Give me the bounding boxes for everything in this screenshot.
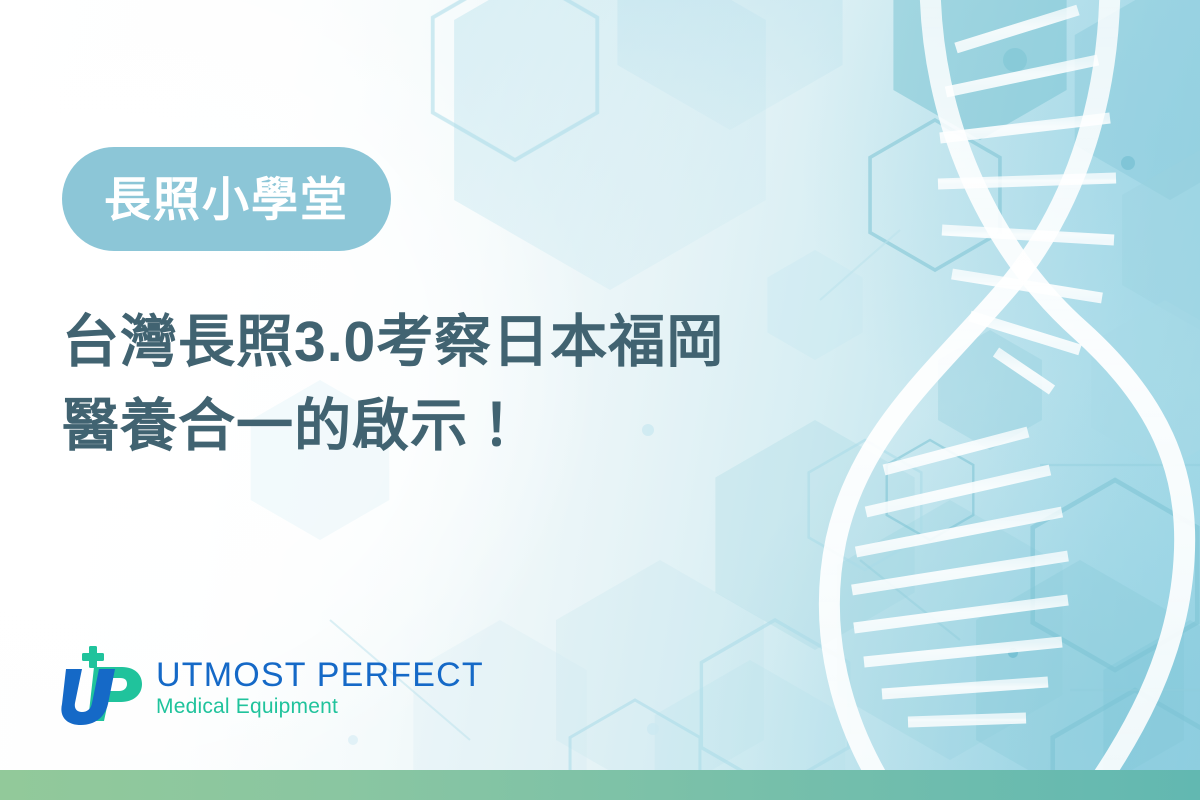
brand-tagline: Medical Equipment [156,694,484,720]
category-badge-label: 長照小學堂 [104,176,349,223]
bottom-accent-bar [0,770,1200,800]
brand-name: UTMOST PERFECT [156,656,484,694]
headline: 台灣長照3.0考察日本福岡 醫養合一的啟示！ [62,300,922,468]
headline-line-2: 醫養合一的啟示！ [62,384,922,468]
category-badge[interactable]: 長照小學堂 [62,147,391,251]
up-plus-logo-mark-icon [60,645,146,727]
promo-banner: 長照小學堂 台灣長照3.0考察日本福岡 醫養合一的啟示！ UTMOST PERF… [0,0,1200,800]
brand-logo-text: UTMOST PERFECT Medical Equipment [156,656,484,720]
headline-line-1: 台灣長照3.0考察日本福岡 [62,300,922,384]
brand-logo[interactable]: UTMOST PERFECT Medical Equipment [60,645,484,727]
